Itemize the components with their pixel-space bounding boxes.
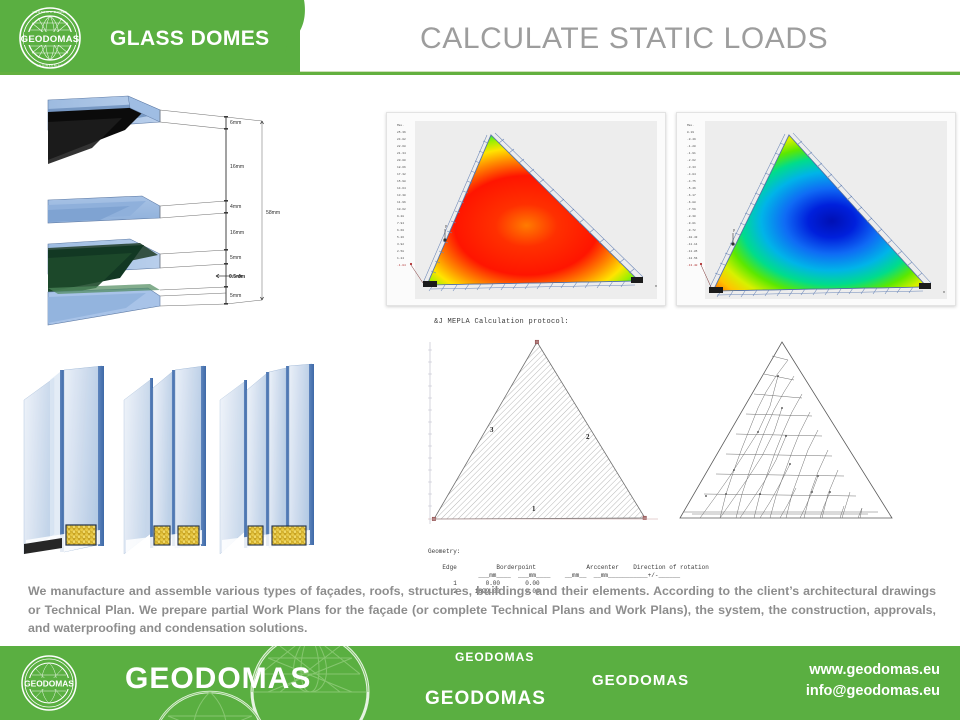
footer-website[interactable]: www.geodomas.eu <box>806 660 940 681</box>
svg-text:-4.04: -4.04 <box>687 173 696 176</box>
dim-label-4: 16mm <box>230 230 244 236</box>
svg-text:-1.20: -1.20 <box>687 145 696 148</box>
slide-root: GEODOMAS GEODESIC DOMES ENGINEERING GLAS… <box>0 0 960 720</box>
svg-text:0.19: 0.19 <box>687 131 694 134</box>
header-curve-shape <box>270 0 340 74</box>
svg-text:14.64: 14.64 <box>397 187 406 190</box>
glazing-unit-double <box>24 366 104 554</box>
dim-label-3: 4mm <box>230 204 241 210</box>
svg-text:x: x <box>655 283 657 288</box>
svg-text:17.32: 17.32 <box>397 173 406 176</box>
svg-text:GEODESIC DOMES: GEODESIC DOMES <box>32 10 67 14</box>
pane-bottom <box>48 239 160 325</box>
svg-text:2.58: 2.58 <box>397 250 404 253</box>
header-brand-label: GLASS DOMES <box>110 27 270 51</box>
slide-header: GEODOMAS GEODESIC DOMES ENGINEERING GLAS… <box>0 0 960 74</box>
svg-text:10.62: 10.62 <box>397 208 406 211</box>
svg-text:25.36: 25.36 <box>397 131 406 134</box>
dim-label-total: 58mm <box>266 210 280 216</box>
svg-text:-1.91: -1.91 <box>687 152 696 155</box>
footer-contact: www.geodomas.eu info@geodomas.eu <box>806 660 940 702</box>
protocol-title: &J MEPLA Calculation protocol: <box>434 318 569 326</box>
svg-text:13.30: 13.30 <box>397 194 406 197</box>
glazing-units-illustration <box>20 358 325 563</box>
svg-text:-7.59: -7.59 <box>687 208 696 211</box>
geometry-section-label: Geometry: <box>428 548 460 555</box>
geodomas-logo-icon: GEODOMAS GEODESIC DOMES ENGINEERING <box>12 6 88 70</box>
svg-text:-6.17: -6.17 <box>687 194 696 197</box>
svg-text:24.02: 24.02 <box>397 138 406 141</box>
protocol-figures: 1 2 3 <box>420 336 940 536</box>
footer-email[interactable]: info@geodomas.eu <box>806 681 940 702</box>
svg-text:y: y <box>733 227 735 232</box>
glazing-unit-quad <box>220 364 314 554</box>
svg-text:-12.56: -12.56 <box>687 257 698 260</box>
glazing-unit-triple <box>124 366 206 554</box>
svg-text:-4.75: -4.75 <box>687 180 696 183</box>
edge-label-1: 1 <box>532 505 536 513</box>
edge-label-2: 2 <box>586 433 590 441</box>
edge-label-3: 3 <box>490 426 494 434</box>
svg-text:11.96: 11.96 <box>397 201 406 204</box>
svg-text:3.92: 3.92 <box>397 243 404 246</box>
dim-label-6: 0.5mm <box>229 274 246 280</box>
svg-text:20.00: 20.00 <box>397 159 406 162</box>
fea-deflection-panel: Max. 0.19-0.49 -1.20-1.91 -2.62-3.33 -4.… <box>676 112 956 306</box>
svg-text:-6.88: -6.88 <box>687 201 696 204</box>
svg-text:GEODOMAS: GEODOMAS <box>21 34 80 45</box>
mesh-triangle <box>680 342 892 518</box>
dim-label-7: 5mm <box>230 293 241 299</box>
svg-text:GEODOMAS: GEODOMAS <box>24 679 74 689</box>
page-title: CALCULATE STATIC LOADS <box>420 22 828 56</box>
svg-text:1.24: 1.24 <box>397 257 404 260</box>
stress-contour-plot: Max. 25.3624.02 22.6821.34 20.0018.66 17… <box>387 113 665 305</box>
svg-text:22.68: 22.68 <box>397 145 406 148</box>
svg-text:-9.72: -9.72 <box>687 229 696 232</box>
dim-label-1: 6mm <box>230 120 241 126</box>
deflection-contour-plot: Max. 0.19-0.49 -1.20-1.91 -2.62-3.33 -4.… <box>677 113 955 305</box>
body-paragraph: We manufacture and assemble various type… <box>28 582 936 638</box>
footer-wordmark-primary: GEODOMAS <box>125 662 311 696</box>
footer-wordmark-medium: GEODOMAS <box>425 688 546 710</box>
svg-text:-10.43: -10.43 <box>687 236 698 239</box>
svg-text:Max.: Max. <box>687 124 694 127</box>
dim-label-2: 16mm <box>230 164 244 170</box>
svg-text:ENGINEERING: ENGINEERING <box>37 63 64 67</box>
geometry-triangle: 1 2 3 <box>428 340 658 524</box>
svg-text:-11.14: -11.14 <box>687 243 698 246</box>
svg-text:-8.30: -8.30 <box>687 215 696 218</box>
svg-text:7.94: 7.94 <box>397 222 404 225</box>
dim-label-5: 5mm <box>230 255 241 261</box>
svg-text:-0.49: -0.49 <box>687 138 696 141</box>
svg-text:-3.33: -3.33 <box>687 166 696 169</box>
mepla-calculation-protocol: &J MEPLA Calculation protocol: <box>420 312 940 580</box>
svg-text:-2.62: -2.62 <box>687 159 696 162</box>
footer-geodomas-logo-icon: GEODOMAS <box>18 654 80 712</box>
svg-text:-11.85: -11.85 <box>687 250 698 253</box>
svg-text:6.60: 6.60 <box>397 229 404 232</box>
svg-text:-13.40: -13.40 <box>687 264 698 267</box>
svg-text:15.98: 15.98 <box>397 180 406 183</box>
fea-stress-panel: Max. 25.3624.02 22.6821.34 20.0018.66 17… <box>386 112 666 306</box>
svg-text:-1.04: -1.04 <box>397 264 406 267</box>
footer-wordmark-mid: GEODOMAS <box>592 672 689 689</box>
svg-text:18.66: 18.66 <box>397 166 406 169</box>
svg-text:y: y <box>445 223 447 228</box>
slide-footer: GEODOMAS GEODOMAS GEODOMAS GEODOMAS GEOD… <box>0 646 960 720</box>
pane-middle <box>48 196 160 223</box>
svg-text:5.26: 5.26 <box>397 236 404 239</box>
svg-text:Max.: Max. <box>397 124 404 127</box>
svg-text:x: x <box>943 289 945 294</box>
glass-cross-section-drawing: 6mm 16mm 4mm 16mm 5mm 0.5mm 5mm 58mm <box>30 92 320 337</box>
pane-top <box>48 96 160 164</box>
svg-text:-5.46: -5.46 <box>687 187 696 190</box>
header-green-rule <box>0 72 960 75</box>
footer-wordmark-small: GEODOMAS <box>455 650 534 664</box>
svg-text:21.34: 21.34 <box>397 152 406 155</box>
svg-text:-9.01: -9.01 <box>687 222 696 225</box>
svg-text:9.28: 9.28 <box>397 215 404 218</box>
